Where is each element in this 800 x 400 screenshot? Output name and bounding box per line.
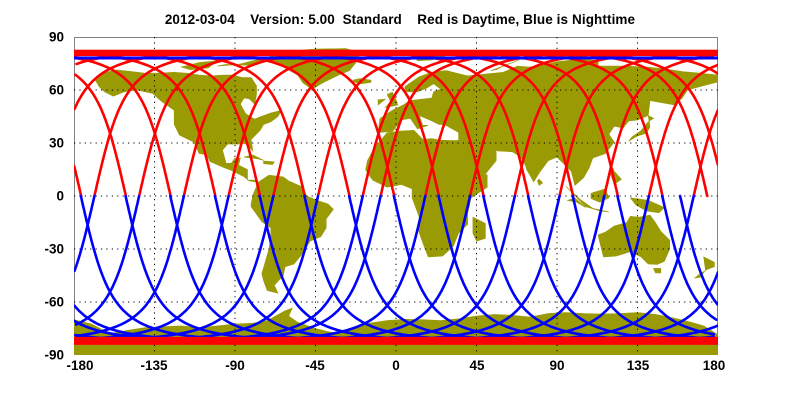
x-tick-label: 90 xyxy=(549,358,564,373)
x-tick-label: 0 xyxy=(392,358,400,373)
y-tick-label: 90 xyxy=(0,30,64,45)
x-tick-label: -45 xyxy=(305,358,325,373)
x-tick-label: 45 xyxy=(469,358,484,373)
y-tick-label: -30 xyxy=(0,242,64,257)
y-tick-label: 0 xyxy=(0,189,64,204)
x-tick-label: 180 xyxy=(703,358,726,373)
y-tick-label: 30 xyxy=(0,136,64,151)
x-tick-label: -135 xyxy=(140,358,167,373)
y-tick-label: -60 xyxy=(0,295,64,310)
axis-labels: 90 60 30 0 -30 -60 -90 -180 -135 -90 -45… xyxy=(0,0,800,400)
x-tick-label: -180 xyxy=(66,358,93,373)
x-tick-label: 135 xyxy=(627,358,650,373)
ground-track-map: 2012-03-04 Version: 5.00 Standard Red is… xyxy=(0,0,800,400)
y-tick-label: 60 xyxy=(0,83,64,98)
y-tick-label: -90 xyxy=(0,348,64,363)
x-tick-label: -90 xyxy=(225,358,245,373)
